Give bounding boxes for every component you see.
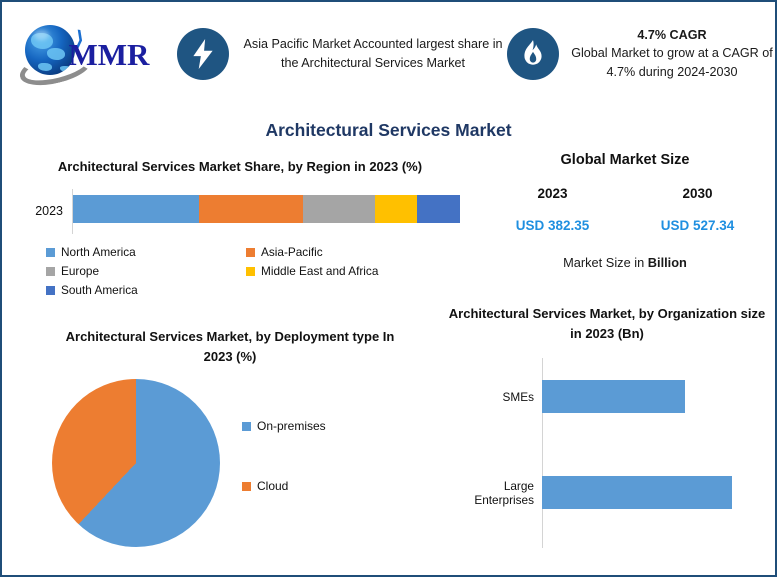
region-axis [72,189,460,234]
market-size-year-2023: 2023 [480,186,625,201]
region-share-chart: Architectural Services Market Share, by … [20,157,460,300]
lightning-bolt-icon [177,28,229,80]
legend-item: Europe [46,262,246,281]
cagr-heading: 4.7% CAGR [569,26,775,44]
legend-swatch-icon [46,286,55,295]
organization-size-chart: Architectural Services Market, by Organi… [442,304,772,548]
legend-label: Asia-Pacific [261,243,323,262]
organization-bar [542,380,685,413]
market-size-unit-prefix: Market Size in [563,255,648,270]
deployment-legend: On-premisesCloud [242,419,326,539]
legend-item: North America [46,243,246,262]
organization-bar-label: SMEs [442,390,542,404]
legend-label: Europe [61,262,99,281]
legend-label: On-premises [257,419,326,433]
organization-bar-row: SMEs [442,380,772,413]
region-segment-north-america [73,195,199,223]
legend-item: On-premises [242,419,326,433]
legend-item: Middle East and Africa [246,262,446,281]
region-chart-plot: 2023 [20,189,460,234]
page-title: Architectural Services Market [2,120,775,141]
deployment-type-chart: Architectural Services Market, by Deploy… [20,327,440,569]
legend-label: Cloud [257,479,288,493]
legend-item: South America [46,281,246,300]
highlight-asia-pacific-text: Asia Pacific Market Accounted largest sh… [239,35,507,72]
brand-name: MMR [69,37,150,73]
region-segment-asia-pacific [199,195,303,223]
region-segment-europe [303,195,375,223]
highlight-asia-pacific: Asia Pacific Market Accounted largest sh… [177,2,507,105]
infographic-page: ⟩ MMR Asia Pacific Market Accounted larg… [0,0,777,577]
region-chart-title: Architectural Services Market Share, by … [20,157,460,177]
organization-bar [542,476,732,509]
legend-item: Cloud [242,479,326,493]
global-market-size-values: USD 382.35 USD 527.34 [480,218,770,233]
highlight-cagr-text: 4.7% CAGR Global Market to grow at a CAG… [569,26,775,81]
deployment-pie [52,379,220,547]
legend-label: South America [61,281,138,300]
flame-icon [507,28,559,80]
global-market-size-years: 2023 2030 [480,186,770,201]
region-segment-south-america [417,195,460,223]
organization-bar-row: Large Enterprises [442,476,772,509]
header-bar: ⟩ MMR Asia Pacific Market Accounted larg… [2,2,775,105]
legend-label: North America [61,243,136,262]
organization-chart-plot: SMEsLarge Enterprises [442,358,772,548]
market-size-unit: Market Size in Billion [480,255,770,270]
legend-item: Asia-Pacific [246,243,446,262]
market-size-year-2030: 2030 [625,186,770,201]
highlight-cagr: 4.7% CAGR Global Market to grow at a CAG… [507,2,775,105]
legend-swatch-icon [246,248,255,257]
legend-label: Middle East and Africa [261,262,378,281]
legend-swatch-icon [242,422,251,431]
legend-swatch-icon [242,482,251,491]
market-size-value-2023: USD 382.35 [480,218,625,233]
market-size-value-2030: USD 527.34 [625,218,770,233]
organization-chart-title: Architectural Services Market, by Organi… [442,304,772,344]
region-category-label: 2023 [20,204,72,218]
legend-swatch-icon [246,267,255,276]
legend-swatch-icon [46,267,55,276]
global-market-size-panel: Global Market Size 2023 2030 USD 382.35 … [480,152,770,270]
region-stacked-bar [73,195,460,223]
region-segment-middle-east-and-africa [375,195,418,223]
cagr-subtext: Global Market to grow at a CAGR of 4.7% … [571,46,773,78]
global-market-size-title: Global Market Size [480,152,770,168]
globe-icon [25,25,75,75]
deployment-chart-title: Architectural Services Market, by Deploy… [65,327,395,367]
organization-bar-label: Large Enterprises [442,479,542,507]
market-size-unit-bold: Billion [648,255,687,270]
deployment-chart-plot: On-premisesCloud [20,379,440,569]
region-legend: North AmericaAsia-PacificEuropeMiddle Ea… [46,243,446,300]
legend-swatch-icon [46,248,55,257]
brand-logo: ⟩ MMR [2,2,177,105]
